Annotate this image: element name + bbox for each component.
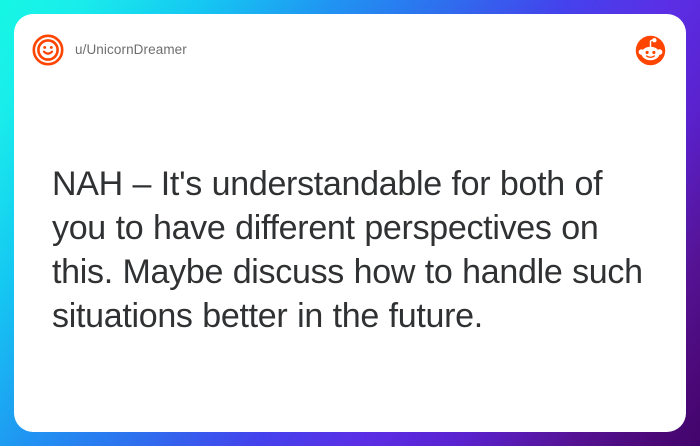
author-block[interactable]: u/UnicornDreamer xyxy=(32,34,187,66)
card-header: u/UnicornDreamer xyxy=(14,14,686,86)
reddit-snoo-icon xyxy=(635,35,666,66)
reddit-comment-card: u/UnicornDreamer xyxy=(14,14,686,432)
post-text: NAH – It's understandable for both of yo… xyxy=(52,162,648,338)
screenshot-canvas: u/UnicornDreamer xyxy=(0,0,700,446)
smiley-face-icon xyxy=(32,34,64,66)
card-body: NAH – It's understandable for both of yo… xyxy=(52,162,648,338)
author-username: u/UnicornDreamer xyxy=(75,43,187,57)
